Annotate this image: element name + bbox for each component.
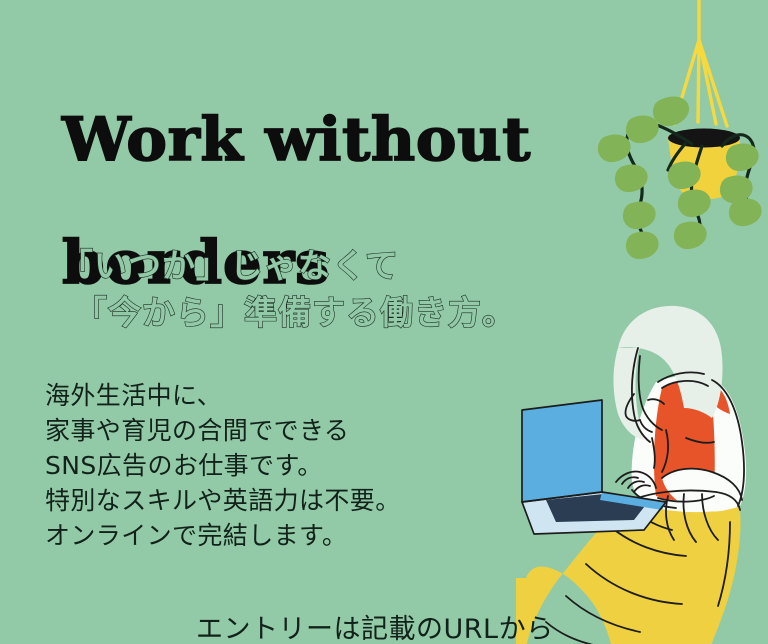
subtitle-line-2: 「今から」準備する働き方。 bbox=[60, 290, 530, 337]
cta-text: エントリーは記載のURLから bbox=[196, 607, 554, 644]
body-copy: 海外生活中に、 家事や育児の合間でできる SNS広告のお仕事です。 特別なスキル… bbox=[45, 378, 465, 553]
headline-line-1: Work without bbox=[62, 111, 592, 170]
body-line-4: 特別なスキルや英語力は不要。 bbox=[45, 483, 465, 518]
plant-leaves bbox=[598, 97, 762, 260]
poster-canvas: Work without borders 「いつか」じゃなくて 「今から」準備す… bbox=[0, 0, 768, 644]
body-line-2: 家事や育児の合間でできる bbox=[45, 413, 465, 448]
body-line-5: オンラインで完結します。 bbox=[45, 518, 465, 553]
subtitle-line-1: 「いつか」じゃなくて bbox=[60, 243, 530, 290]
body-line-1: 海外生活中に、 bbox=[45, 378, 465, 413]
body-line-3: SNS広告のお仕事です。 bbox=[45, 448, 465, 483]
hanging-plant-illustration bbox=[588, 0, 768, 264]
subtitle: 「いつか」じゃなくて 「今から」準備する働き方。 bbox=[60, 243, 530, 337]
